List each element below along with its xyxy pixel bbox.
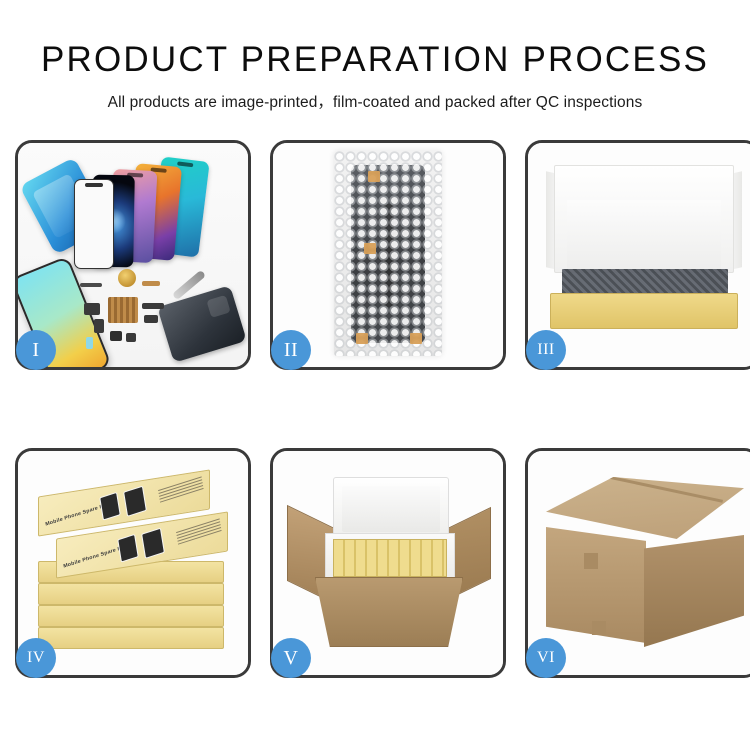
- step-panel-2[interactable]: II: [270, 140, 506, 370]
- tape-piece-bottom-right: [410, 333, 422, 344]
- open-shipping-carton: [291, 473, 487, 649]
- tape-piece-middle: [364, 243, 376, 254]
- stack-box-4: [38, 605, 224, 627]
- open-inner-box: [550, 165, 738, 329]
- part-strip-1: [80, 283, 102, 287]
- speaker-part: [126, 333, 136, 342]
- flex-cable-1: [84, 303, 100, 315]
- phone-screen-fan: [66, 157, 246, 272]
- spare-parts-cluster: [80, 275, 210, 357]
- foam-lid: [333, 477, 449, 539]
- box-label-lines-2: [176, 518, 222, 546]
- stack-box-bottom: [38, 627, 224, 649]
- process-steps-grid: I II: [15, 140, 740, 700]
- chip-array-part: [108, 297, 138, 323]
- bubble-wrap-bag: [334, 151, 442, 356]
- flex-cable-2: [94, 319, 104, 333]
- flex-cable-3: [142, 303, 164, 309]
- carton-tape-lower: [592, 621, 606, 635]
- step-badge-5: V: [271, 638, 311, 678]
- repair-tool: [172, 270, 206, 301]
- flex-cable-4: [144, 315, 158, 323]
- sealed-shipping-carton: [546, 477, 744, 647]
- header: PRODUCT PREPARATION PROCESS All products…: [0, 0, 750, 112]
- camera-module-part: [110, 331, 122, 341]
- carton-side-face: [644, 535, 744, 647]
- step-badge-1: I: [16, 330, 56, 370]
- box-label-phone-a2: [117, 534, 139, 563]
- step-4-image: Mobile Phone Spare Parts Mobile Phone Sp…: [18, 451, 248, 675]
- step-1-image: [18, 143, 248, 367]
- wireless-coil-part: [118, 269, 136, 287]
- step-3-image: [528, 143, 750, 367]
- carton-top-face: [546, 477, 744, 539]
- step-badge-4: IV: [16, 638, 56, 678]
- step-panel-4[interactable]: Mobile Phone Spare Parts Mobile Phone Sp…: [15, 448, 251, 678]
- box-label-phone-b1: [123, 486, 147, 517]
- carton-tape-upper: [584, 553, 598, 569]
- box-label-lines-1: [158, 476, 204, 504]
- step-5-image: [273, 451, 503, 675]
- box-label-phone-b2: [141, 528, 165, 559]
- step-panel-3[interactable]: III: [525, 140, 750, 370]
- infographic-page: PRODUCT PREPARATION PROCESS All products…: [0, 0, 750, 750]
- stack-box-3: [38, 583, 224, 605]
- carton-body: [315, 577, 463, 647]
- step-2-image: [273, 143, 503, 367]
- carton-top-seam: [602, 474, 723, 502]
- step-badge-3: III: [526, 330, 566, 370]
- yellow-boxes-inside: [333, 539, 447, 577]
- small-screen-part: [86, 337, 93, 349]
- step-panel-6[interactable]: VI: [525, 448, 750, 678]
- tape-piece-top: [368, 171, 380, 182]
- part-strip-2: [142, 281, 160, 286]
- step-panel-1[interactable]: I: [15, 140, 251, 370]
- step-badge-2: II: [271, 330, 311, 370]
- step-6-image: [528, 451, 750, 675]
- page-subtitle: All products are image-printed，film-coat…: [0, 90, 750, 112]
- tape-piece-bottom-left: [356, 333, 368, 344]
- page-title: PRODUCT PREPARATION PROCESS: [0, 40, 750, 80]
- step-badge-6: VI: [526, 638, 566, 678]
- bubble-texture: [334, 151, 442, 356]
- phone-screen-white: [74, 179, 114, 269]
- box-label-phone-a1: [99, 492, 121, 521]
- step-panel-5[interactable]: V: [270, 448, 506, 678]
- white-box-lid: [554, 165, 734, 273]
- box-stack: Mobile Phone Spare Parts Mobile Phone Sp…: [32, 477, 238, 659]
- kraft-box-base: [550, 293, 738, 329]
